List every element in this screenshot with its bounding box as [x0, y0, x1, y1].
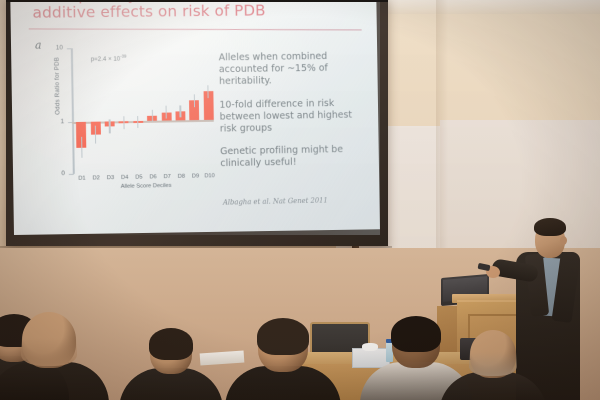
error-bar: [137, 116, 138, 128]
y-tick-label: 1: [48, 118, 64, 125]
x-tick-label: D2: [89, 175, 103, 181]
figure-panel-label: a: [35, 39, 42, 52]
y-tick-mark: [69, 174, 74, 175]
audience-member-hair: [257, 318, 309, 355]
x-tick-label: D1: [75, 176, 89, 182]
slide-bullet-text: Alleles when combined accounted for ~15%…: [219, 51, 357, 182]
tissue-sheet: [362, 343, 378, 351]
ceiling-edge: [352, 0, 600, 14]
x-tick-label: D8: [174, 174, 188, 180]
audience-member-hair: [391, 316, 441, 352]
x-tick-label: D6: [146, 174, 160, 180]
presenter-ear: [560, 236, 567, 245]
bullet-1: Alleles when combined accounted for ~15%…: [219, 51, 355, 89]
x-tick-label: D4: [118, 175, 132, 181]
error-bar: [123, 116, 124, 129]
bullet-2: 10-fold difference in risk between lowes…: [219, 97, 355, 135]
x-tick-label: D9: [188, 173, 202, 179]
audience-member-hair: [469, 352, 517, 376]
audience-member-hair: [149, 328, 193, 360]
lecture-room-photo: Susceptibility alleles have additive eff…: [0, 0, 600, 400]
screen-top-edge: [6, 0, 388, 2]
error-bar: [109, 120, 110, 134]
audience-member-hair: [21, 338, 77, 366]
bar-slot: [200, 45, 216, 172]
x-tick-label: D7: [160, 174, 174, 180]
x-tick-label: D3: [103, 175, 117, 181]
slide-title: Susceptibility alleles have additive eff…: [32, 0, 298, 22]
y-tick-label: 10: [47, 44, 63, 51]
y-tick-mark: [67, 48, 72, 49]
bullet-3: Genetic profiling might be clinically us…: [220, 144, 356, 171]
y-tick-label: 0: [49, 170, 65, 177]
error-bar: [194, 94, 195, 107]
x-tick-label: D5: [132, 174, 146, 180]
y-axis-label: Odds Ratio for PDB: [54, 52, 62, 120]
x-tick-label: D10: [203, 173, 217, 179]
error-bar: [180, 105, 181, 117]
error-bar: [151, 110, 152, 122]
presentation-slide: Susceptibility alleles have additive eff…: [10, 0, 380, 235]
error-bar: [208, 85, 209, 98]
presenter-hair: [534, 218, 566, 236]
title-divider: [29, 28, 362, 30]
slide-citation: Albagha et al. Nat Genet 2011: [223, 196, 349, 206]
error-bar: [166, 106, 167, 118]
bar-group: [73, 45, 217, 174]
odds-ratio-bar-chart: p=2.4 × 10-39 Odds Ratio for PDB 1010 D1…: [47, 45, 215, 187]
